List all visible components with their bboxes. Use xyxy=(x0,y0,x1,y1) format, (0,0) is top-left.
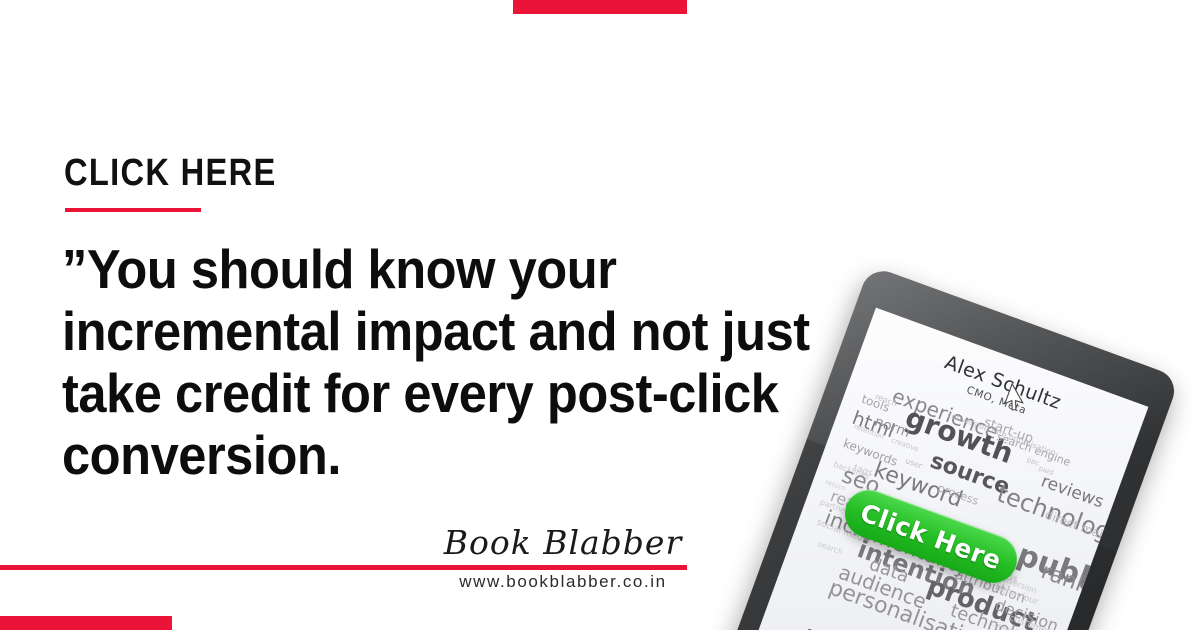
brand-lockup: Book Blabber www.bookblabber.co.in xyxy=(438,524,688,592)
word-cloud-term: ppc xyxy=(1026,457,1040,468)
top-accent-bar xyxy=(513,0,687,14)
word-cloud-term: creative xyxy=(890,437,919,453)
eyebrow-label: CLICK HERE xyxy=(64,152,546,194)
bottom-left-accent-bar xyxy=(0,616,172,630)
eyebrow-block: CLICK HERE xyxy=(64,152,624,194)
promo-banner: CLICK HERE ”You should know your increme… xyxy=(0,0,1200,630)
eyebrow-underline xyxy=(65,208,201,212)
word-cloud-term: search xyxy=(816,540,844,557)
brand-name: Book Blabber xyxy=(438,524,688,562)
brand-url: www.bookblabber.co.in xyxy=(438,572,688,592)
quote-text: ”You should know your incremental impact… xyxy=(62,238,890,486)
